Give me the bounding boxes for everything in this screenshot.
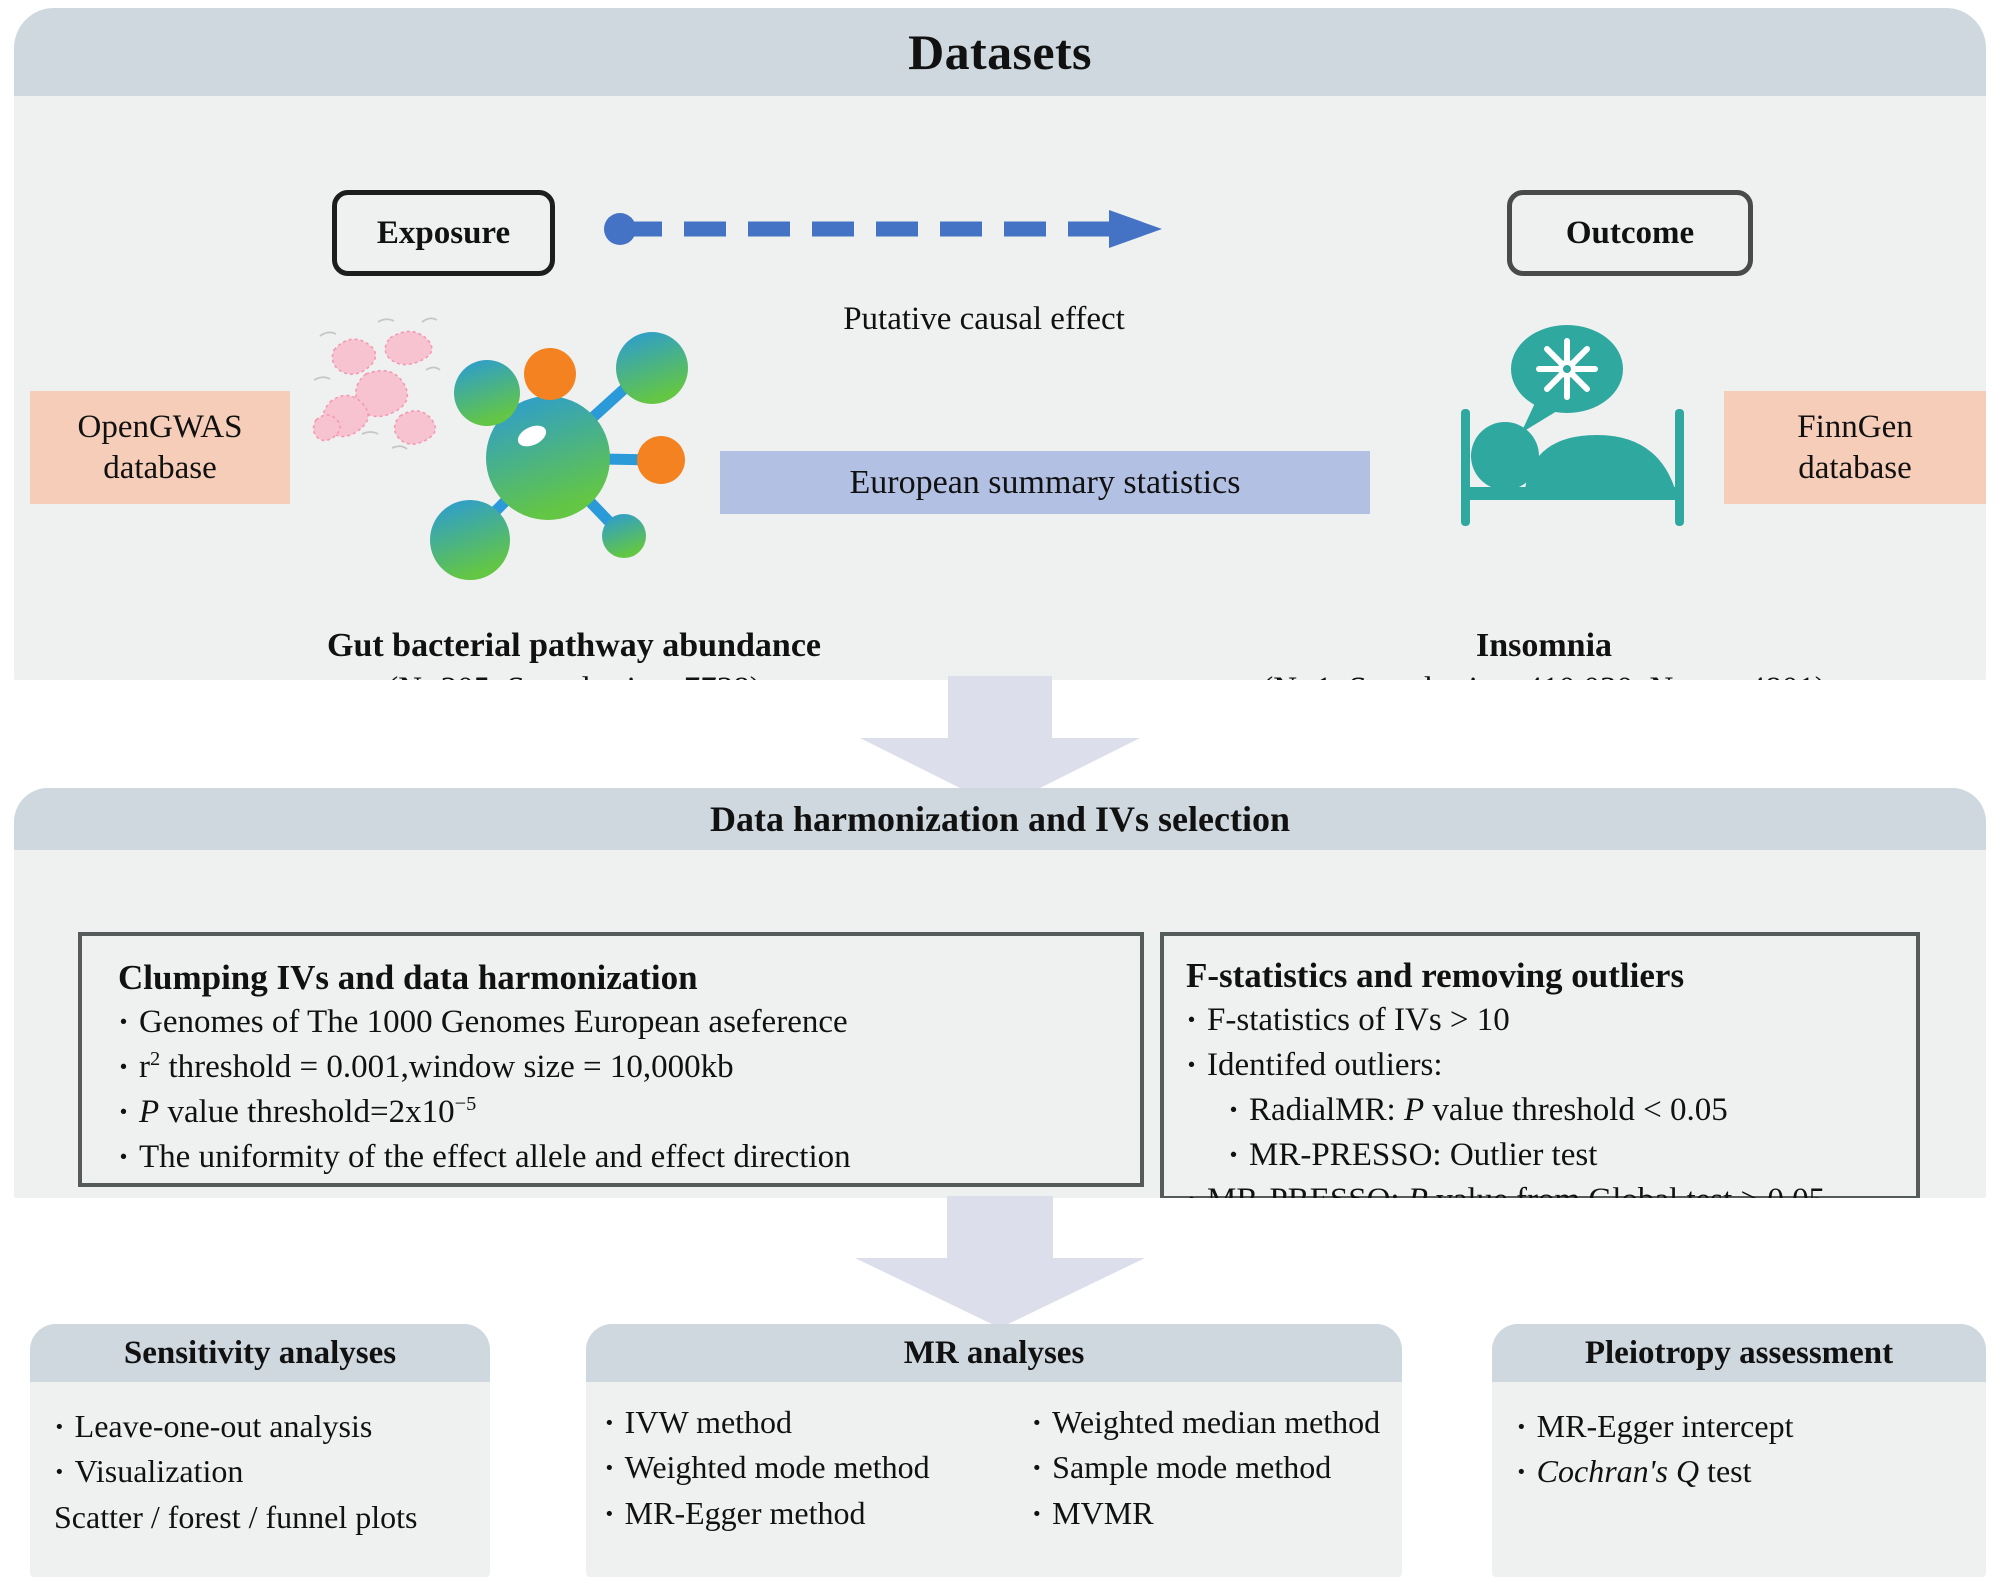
clumping-title: Clumping IVs and data harmonization <box>118 958 1140 998</box>
pleiotropy-body: MR-Egger intercept Cochran's Q test <box>1492 1382 1986 1495</box>
fstatistics-list: F-statistics of IVs > 10 Identifed outli… <box>1186 998 1916 1198</box>
list-item: MVMR <box>1032 1491 1403 1536</box>
opengwas-database-chip: OpenGWAS database <box>30 391 290 504</box>
finngen-line2: database <box>1798 448 1912 488</box>
finngen-database-chip: FinnGen database <box>1724 391 1986 504</box>
mr-methods-right-column: Weighted median method Sample mode metho… <box>1014 1400 1403 1536</box>
list-item: Weighted median method <box>1032 1400 1403 1445</box>
insomnia-thought-bubble-icon <box>1511 325 1623 433</box>
mr-analyses-body: IVW method Weighted mode method MR-Egger… <box>586 1382 1402 1536</box>
list-item: Sample mode method <box>1032 1445 1403 1490</box>
european-summary-statistics-label: European summary statistics <box>850 464 1241 502</box>
outcome-box: Outcome <box>1507 190 1753 276</box>
european-summary-statistics-bar: European summary statistics <box>720 451 1370 514</box>
sensitivity-analyses-section: Sensitivity analyses Leave-one-out analy… <box>30 1324 490 1577</box>
list-item: MR-PRESSO: P value from Global test > 0.… <box>1186 1178 1916 1199</box>
fstatistics-box: F-statistics and removing outliers F-sta… <box>1160 932 1920 1198</box>
opengwas-line1: OpenGWAS <box>78 407 243 447</box>
sensitivity-footnote: Scatter / forest / funnel plots <box>54 1495 490 1540</box>
list-item: RadialMR: P value threshold < 0.05 <box>1186 1088 1916 1133</box>
list-item: P value threshold=2x10−5 <box>118 1090 1140 1135</box>
pleiotropy-header: Pleiotropy assessment <box>1492 1324 1986 1382</box>
list-item: Weighted mode method <box>604 1445 1014 1490</box>
causal-arrow-icon <box>604 206 1164 252</box>
clumping-list: Genomes of The 1000 Genomes European ase… <box>118 1000 1140 1180</box>
list-item: r2 threshold = 0.001,window size = 10,00… <box>118 1045 1140 1090</box>
fstatistics-title: F-statistics and removing outliers <box>1186 956 1916 996</box>
clumping-box: Clumping IVs and data harmonization Geno… <box>78 932 1144 1187</box>
flow-arrow-down-icon-2 <box>855 1196 1145 1328</box>
list-item: The uniformity of the effect allele and … <box>118 1135 1140 1180</box>
list-item: Genomes of The 1000 Genomes European ase… <box>118 1000 1140 1045</box>
exposure-caption: Gut bacterial pathway abundance (N=205, … <box>134 624 1014 680</box>
pleiotropy-assessment-section: Pleiotropy assessment MR-Egger intercept… <box>1492 1324 1986 1577</box>
list-item: MR-Egger method <box>604 1491 1014 1536</box>
outcome-caption: Insomnia (N=1, Sample size=410,030, Ncas… <box>1094 624 1986 680</box>
mr-analyses-section: MR analyses IVW method Weighted mode met… <box>586 1324 1402 1577</box>
list-item: Leave-one-out analysis <box>54 1404 490 1449</box>
exposure-caption-detail: (N=205, Sample size=7738) <box>387 671 761 680</box>
list-item: Cochran's Q test <box>1516 1449 1986 1494</box>
list-item: MR-PRESSO: Outlier test <box>1186 1133 1916 1178</box>
outcome-caption-title: Insomnia <box>1094 624 1986 668</box>
sensitivity-body: Leave-one-out analysis Visualization Sca… <box>30 1382 490 1540</box>
exposure-box: Exposure <box>332 190 555 276</box>
sensitivity-title: Sensitivity analyses <box>124 1335 396 1372</box>
harmonization-header: Data harmonization and IVs selection <box>14 788 1986 850</box>
harmonization-title: Data harmonization and IVs selection <box>710 798 1290 840</box>
sensitivity-header: Sensitivity analyses <box>30 1324 490 1382</box>
mr-analyses-header: MR analyses <box>586 1324 1402 1382</box>
list-item: F-statistics of IVs > 10 <box>1186 998 1916 1043</box>
exposure-caption-title: Gut bacterial pathway abundance <box>134 624 1014 668</box>
finngen-line1: FinnGen <box>1797 407 1913 447</box>
outcome-caption-detail: (N=1, Sample size=410,030, Ncase=4801) <box>1262 671 1826 680</box>
mr-analyses-title: MR analyses <box>904 1335 1085 1372</box>
list-item: Identifed outliers: <box>1186 1043 1916 1088</box>
sleeping-person-in-bed-icon <box>1439 311 1719 526</box>
page-title: Datasets <box>908 23 1092 81</box>
list-item: MR-Egger intercept <box>1516 1404 1986 1449</box>
pleiotropy-list: MR-Egger intercept Cochran's Q test <box>1492 1382 1986 1495</box>
harmonization-section: Data harmonization and IVs selection Clu… <box>14 788 1986 1198</box>
list-item: IVW method <box>604 1400 1014 1445</box>
mr-methods-left-column: IVW method Weighted mode method MR-Egger… <box>586 1400 1014 1536</box>
bacteria-icon <box>314 331 436 444</box>
opengwas-line2: database <box>103 448 217 488</box>
sensitivity-list: Leave-one-out analysis Visualization Sca… <box>30 1382 490 1540</box>
exposure-label: Exposure <box>377 215 510 252</box>
pleiotropy-title: Pleiotropy assessment <box>1585 1335 1893 1372</box>
list-item: Visualization <box>54 1449 490 1494</box>
datasets-header: Datasets <box>14 8 1986 96</box>
outcome-label: Outcome <box>1566 215 1694 252</box>
datasets-section: Datasets Exposure Outcome Putative causa… <box>14 8 1986 680</box>
molecule-network-icon <box>304 308 704 588</box>
causal-effect-label: Putative causal effect <box>774 301 1194 338</box>
